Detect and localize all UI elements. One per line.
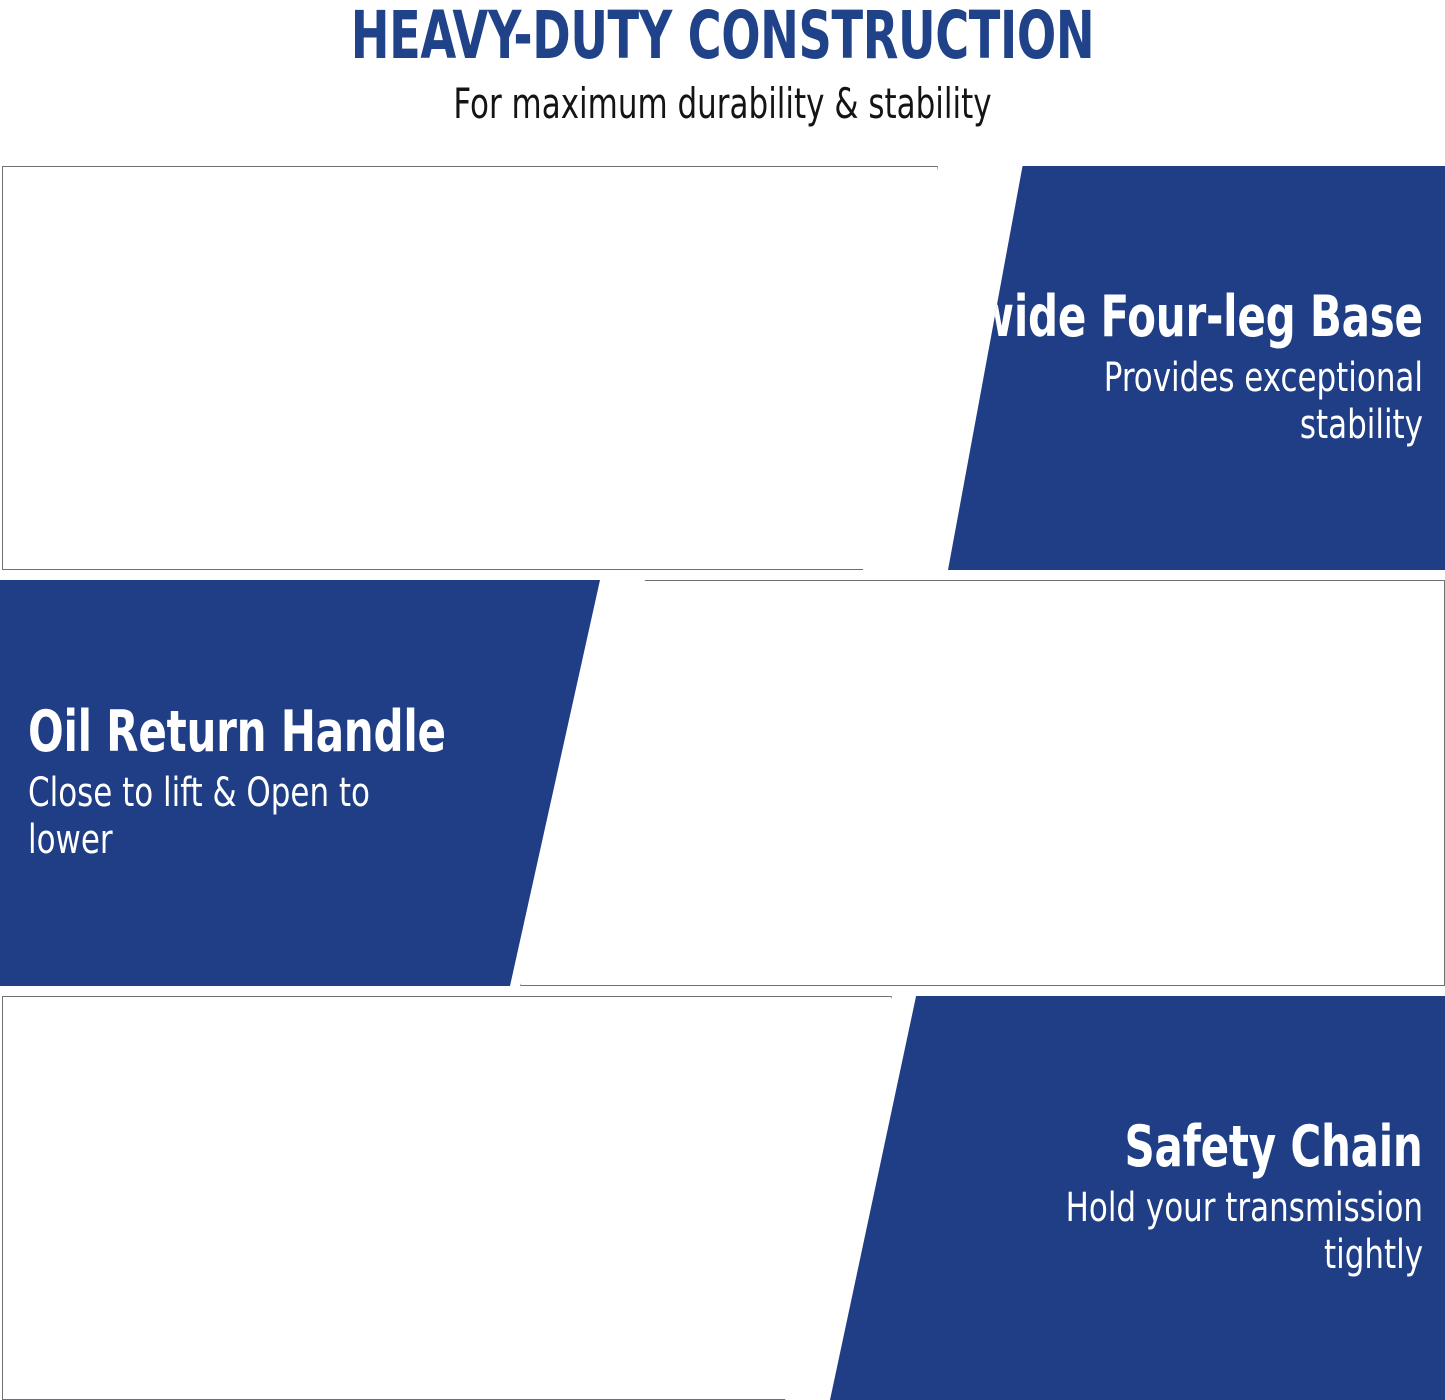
callout-safety-chain: Safety Chain Hold your transmission tigh… [830,996,1445,1400]
photo-frame [2,996,892,1400]
callout-title: Oil Return Handle [28,702,446,762]
callout-title: Safety Chain [1125,1117,1423,1177]
photo-frame [2,166,938,570]
feature-row-four-leg-base: wide Four-leg Base Provides exceptional … [0,166,1445,570]
page-title: HEAVY-DUTY CONSTRUCTION [159,2,1286,70]
callout-four-leg-base: wide Four-leg Base Provides exceptional … [948,166,1445,570]
callout-subtitle: Close to lift & Open to lower [28,770,398,864]
oil-return-handle-photo-panel [520,580,1445,986]
callout-title: wide Four-leg Base [975,287,1423,347]
infographic-page: HEAVY-DUTY CONSTRUCTION For maximum dura… [0,0,1445,1400]
page-subtitle: For maximum durability & stability [130,80,1315,128]
callout-subtitle: Provides exceptional stability [1066,355,1423,449]
callout-oil-return-handle: Oil Return Handle Close to lift & Open t… [0,580,600,986]
photo-frame [520,580,1445,986]
callout-subtitle: Hold your transmission tightly [1019,1185,1423,1279]
feature-row-oil-return-handle: Oil Return Handle Close to lift & Open t… [0,580,1445,986]
header: HEAVY-DUTY CONSTRUCTION For maximum dura… [0,0,1445,160]
four-leg-base-photo-panel [2,166,938,570]
feature-row-safety-chain: Safety Chain Hold your transmission tigh… [0,996,1445,1400]
safety-chain-photo-panel [2,996,892,1400]
